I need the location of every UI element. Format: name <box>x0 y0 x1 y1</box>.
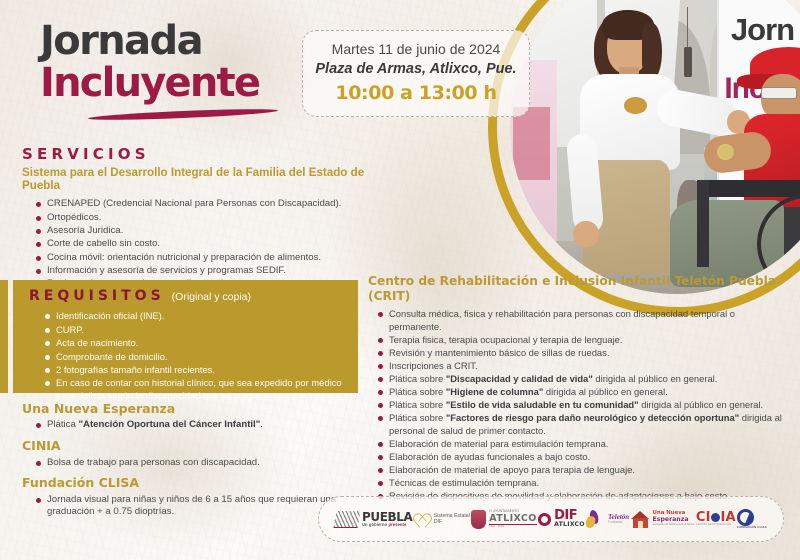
event-place: Plaza de Armas, Atlixco, Pue. <box>313 60 519 80</box>
list-item-text: Plática sobre <box>389 412 446 423</box>
requisitos-edge-stripe <box>0 280 8 393</box>
list-item-text: Comprobante de domicilio. <box>56 351 168 362</box>
dif-ring-icon <box>538 513 551 526</box>
sponsor-logo-strip: PUEBLA Un gobierno presente Sistema Esta… <box>318 496 784 542</box>
list-item: Terapia fisica, terapia ocupacional y te… <box>378 334 788 347</box>
list-item-text: Ortopédicos. <box>47 212 101 223</box>
list-item-text: Información y asesoría de servicios y pr… <box>47 265 286 276</box>
list-item: Plática sobre "Discapacidad y calidad de… <box>378 373 788 386</box>
list-item-text: Elaboración de material de apoyo para te… <box>389 464 635 475</box>
list-item: Revisión y mantenimiento básico de silla… <box>378 347 788 360</box>
servicios-list: CRENAPED (Credencial Nacional para Perso… <box>36 198 372 291</box>
list-item-text: Técnicas de estimulación temprana. <box>389 477 539 488</box>
requisitos-note: (Original y copia) <box>172 292 251 304</box>
list-item-text-tail: dirigida al público en general. <box>593 373 718 384</box>
list-item: CURP. <box>45 324 346 337</box>
list-item-text-tail: dirigida al público en general. <box>639 399 764 410</box>
requisitos-title: REQUISITOS <box>29 289 165 304</box>
list-item: Asesoría Juridica. <box>36 225 372 238</box>
logo-ayuntamiento-atlixco: H. AYUNTAMIENTO ATLIXCO 2021 - 2024 <box>471 504 537 534</box>
requisitos-header: REQUISITOS (Original y copia) <box>29 289 346 304</box>
list-item: CRENAPED (Credencial Nacional para Perso… <box>36 198 372 211</box>
list-item: Identificación oficial (INE). <box>45 310 346 323</box>
list-item-text-tail: dirigida al público en general. <box>543 386 668 397</box>
list-item-text: Cocina móvil: orientación nutricional y … <box>47 252 321 263</box>
poster-canvas: Jorn Incluy <box>0 0 800 560</box>
list-item-text: CURP. <box>56 324 84 335</box>
list-item: Técnicas de estimulación temprana. <box>378 477 788 490</box>
servicios-title: SERVICIOS <box>22 146 372 163</box>
list-item-text: Plática sobre <box>389 373 446 384</box>
crit-title: Centro de Rehabilitación e Inclusión Inf… <box>368 274 788 303</box>
photo-banner-line1: Jorn <box>731 14 794 45</box>
org-name: CINIA <box>22 439 367 453</box>
list-item-text: Revisión y mantenimiento básico de silla… <box>389 347 609 358</box>
logo-teleton: Teletón Fundación <box>586 504 629 534</box>
logo-sistema-estatal-dif: Sistema Estatal DIF <box>414 504 470 534</box>
une-line3: asociación de lucha contra el cáncer <box>653 524 695 527</box>
list-item-text: Asesoría Juridica. <box>47 225 123 236</box>
list-item-text: 2 fotografías tamaño infantil recientes. <box>56 364 215 375</box>
list-item-text: Plática sobre <box>389 399 446 410</box>
list-item-text: Elaboración de material para estimulació… <box>389 438 608 449</box>
list-item: Plática "Atención Oportuna del Cáncer In… <box>36 419 367 432</box>
list-item-emphasis: "Factores de riesgo para daño neurológic… <box>446 412 739 423</box>
logo-una-nueva-esperanza: Una Nueva Esperanza asociación de lucha … <box>631 504 695 534</box>
list-item: Elaboración de material de apoyo para te… <box>378 464 788 477</box>
logo-puebla: PUEBLA Un gobierno presente <box>335 504 412 534</box>
list-item-text: Inscripciones a CRIT. <box>389 360 478 371</box>
list-item-text: Plática sobre <box>389 386 446 397</box>
list-item: Plática sobre "Higiene de columna" dirig… <box>378 386 788 399</box>
list-item-text: Elaboración de ayudas funcionales a bajo… <box>389 451 590 462</box>
event-date: Martes 11 de junio de 2024 <box>313 40 519 59</box>
teleton-figure-icon <box>586 510 605 529</box>
list-item: Corte de cabello sin costo. <box>36 238 372 251</box>
list-item: Inscripciones a CRIT. <box>378 360 788 373</box>
title-line-1: Jornada <box>40 22 340 61</box>
list-item: Acta de nacimiento. <box>45 337 346 350</box>
logo-dif-atlixco: DIF ATLIXCO <box>538 504 585 534</box>
event-time: 10:00 a 13:00 h <box>313 82 519 105</box>
title-underline-swoosh <box>88 107 278 122</box>
title-line-2: Incluyente <box>40 63 340 103</box>
puebla-tagline: Un gobierno presente <box>362 523 412 527</box>
list-item-emphasis: "Higiene de columna" <box>446 386 543 397</box>
dif-sub: ATLIXCO <box>554 522 585 528</box>
list-item-text: Corte de cabello sin costo. <box>47 238 160 249</box>
org-list: Bolsa de trabajo para personas con disca… <box>36 457 367 470</box>
atlixco-name: ATLIXCO <box>489 514 537 524</box>
list-item: Elaboración de ayudas funcionales a bajo… <box>378 451 788 464</box>
org-name: Fundación CLISA <box>22 476 367 490</box>
partner-orgs-section: Una Nueva EsperanzaPlática "Atención Opo… <box>22 402 367 520</box>
list-item-emphasis: "Atención Oportuna del Cáncer Infantil" <box>78 419 260 430</box>
org-list: Plática "Atención Oportuna del Cáncer In… <box>36 419 367 432</box>
cinia-dot-icon <box>711 513 720 522</box>
atlixco-period: 2021 - 2024 <box>489 525 537 528</box>
servicios-section: SERVICIOS Sistema para el Desarrollo Int… <box>22 146 372 292</box>
list-item: Información y asesoría de servicios y pr… <box>36 265 372 278</box>
requisitos-panel: REQUISITOS (Original y copia) Identifica… <box>13 280 358 393</box>
crit-list: Consulta médica, fisica y rehabilitación… <box>378 308 788 502</box>
list-item: Bolsa de trabajo para personas con disca… <box>36 457 367 470</box>
crit-section: Centro de Rehabilitación e Inclusión Inf… <box>368 274 788 503</box>
atlixco-crest-icon <box>471 510 486 529</box>
list-item: Cocina móvil: orientación nutricional y … <box>36 252 372 265</box>
list-item: 2 fotografías tamaño infantil recientes. <box>45 364 346 377</box>
list-item: Plática sobre "Estilo de vida saludable … <box>378 399 788 412</box>
list-item: Elaboración de material para estimulació… <box>378 438 788 451</box>
list-item: Ortopédicos. <box>36 212 372 225</box>
list-item-text: Bolsa de trabajo para personas con disca… <box>47 457 260 468</box>
requisitos-list: Identificación oficial (INE).CURP.Acta d… <box>45 310 346 402</box>
list-item-text: Plática <box>47 419 78 430</box>
list-item: En caso de contar con historial clínico,… <box>45 377 346 403</box>
teleton-sub: Fundación <box>608 521 629 524</box>
list-item-text: Jornada visual para niñas y niños de 6 a… <box>47 494 336 518</box>
org-name: Una Nueva Esperanza <box>22 402 367 416</box>
poster-headline: Jornada Incluyente <box>40 22 340 118</box>
sedif-line2: DIF <box>434 519 470 526</box>
list-item-text: Terapia fisica, terapia ocupacional y te… <box>389 334 622 345</box>
list-item: Consulta médica, fisica y rehabilitación… <box>378 308 788 333</box>
logo-cinia: CIIA CENTRO DE INTEGRACIÓN <box>696 504 736 534</box>
clisa-sub: FUNDACIÓN CLISA <box>737 526 767 529</box>
puebla-mark-icon <box>334 511 361 528</box>
list-item-text-tail: . <box>260 419 263 430</box>
clisa-lens-icon <box>737 509 754 526</box>
servicios-subtitle: Sistema para el Desarrollo Integral de l… <box>22 166 372 194</box>
logo-fundacion-clisa: FUNDACIÓN CLISA <box>737 504 767 534</box>
list-item-emphasis: "Discapacidad y calidad de vida" <box>446 373 593 384</box>
list-item-text: Acta de nacimiento. <box>56 337 138 348</box>
list-item-text: En caso de contar con historial clínico,… <box>56 377 342 401</box>
event-photo: Jorn Incluy <box>488 0 800 316</box>
list-item: Plática sobre "Factores de riesgo para d… <box>378 412 788 437</box>
list-item-emphasis: "Estilo de vida saludable en tu comunida… <box>446 399 639 410</box>
list-item: Comprobante de domicilio. <box>45 351 346 364</box>
list-item-text: Consulta médica, fisica y rehabilitación… <box>389 308 735 332</box>
list-item-text: Identificación oficial (INE). <box>56 310 164 321</box>
house-icon <box>631 511 650 528</box>
heart-icon <box>414 511 431 527</box>
event-details-box: Martes 11 de junio de 2024 Plaza de Arma… <box>302 30 530 117</box>
list-item-text: CRENAPED (Credencial Nacional para Perso… <box>47 198 341 209</box>
cinia-sub: CENTRO DE INTEGRACIÓN <box>696 524 736 527</box>
